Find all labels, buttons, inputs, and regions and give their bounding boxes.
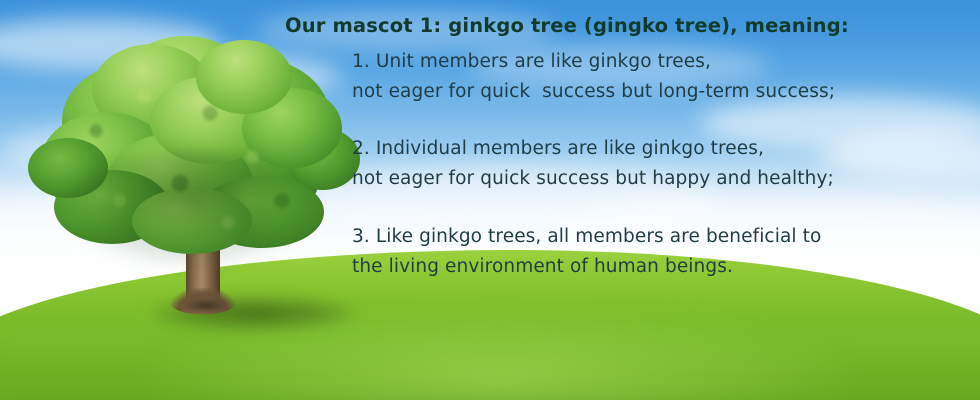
point-2-line-1: 2. Individual members are like ginkgo tr…	[352, 138, 764, 159]
mascot-banner: Our mascot 1: ginkgo tree (gingko tree),…	[0, 0, 980, 400]
point-3-line-2: the living environment of human beings.	[352, 256, 733, 277]
point-2-line-2: not eager for quick success but happy an…	[352, 168, 834, 189]
point-1-line-2: not eager for quick success but long-ter…	[352, 81, 835, 102]
banner-text-block: Our mascot 1: ginkgo tree (gingko tree),…	[0, 0, 980, 400]
page-title: Our mascot 1: ginkgo tree (gingko tree),…	[285, 14, 849, 37]
point-1-line-1: 1. Unit members are like ginkgo trees,	[352, 51, 711, 72]
point-3-line-1: 3. Like ginkgo trees, all members are be…	[352, 226, 821, 247]
